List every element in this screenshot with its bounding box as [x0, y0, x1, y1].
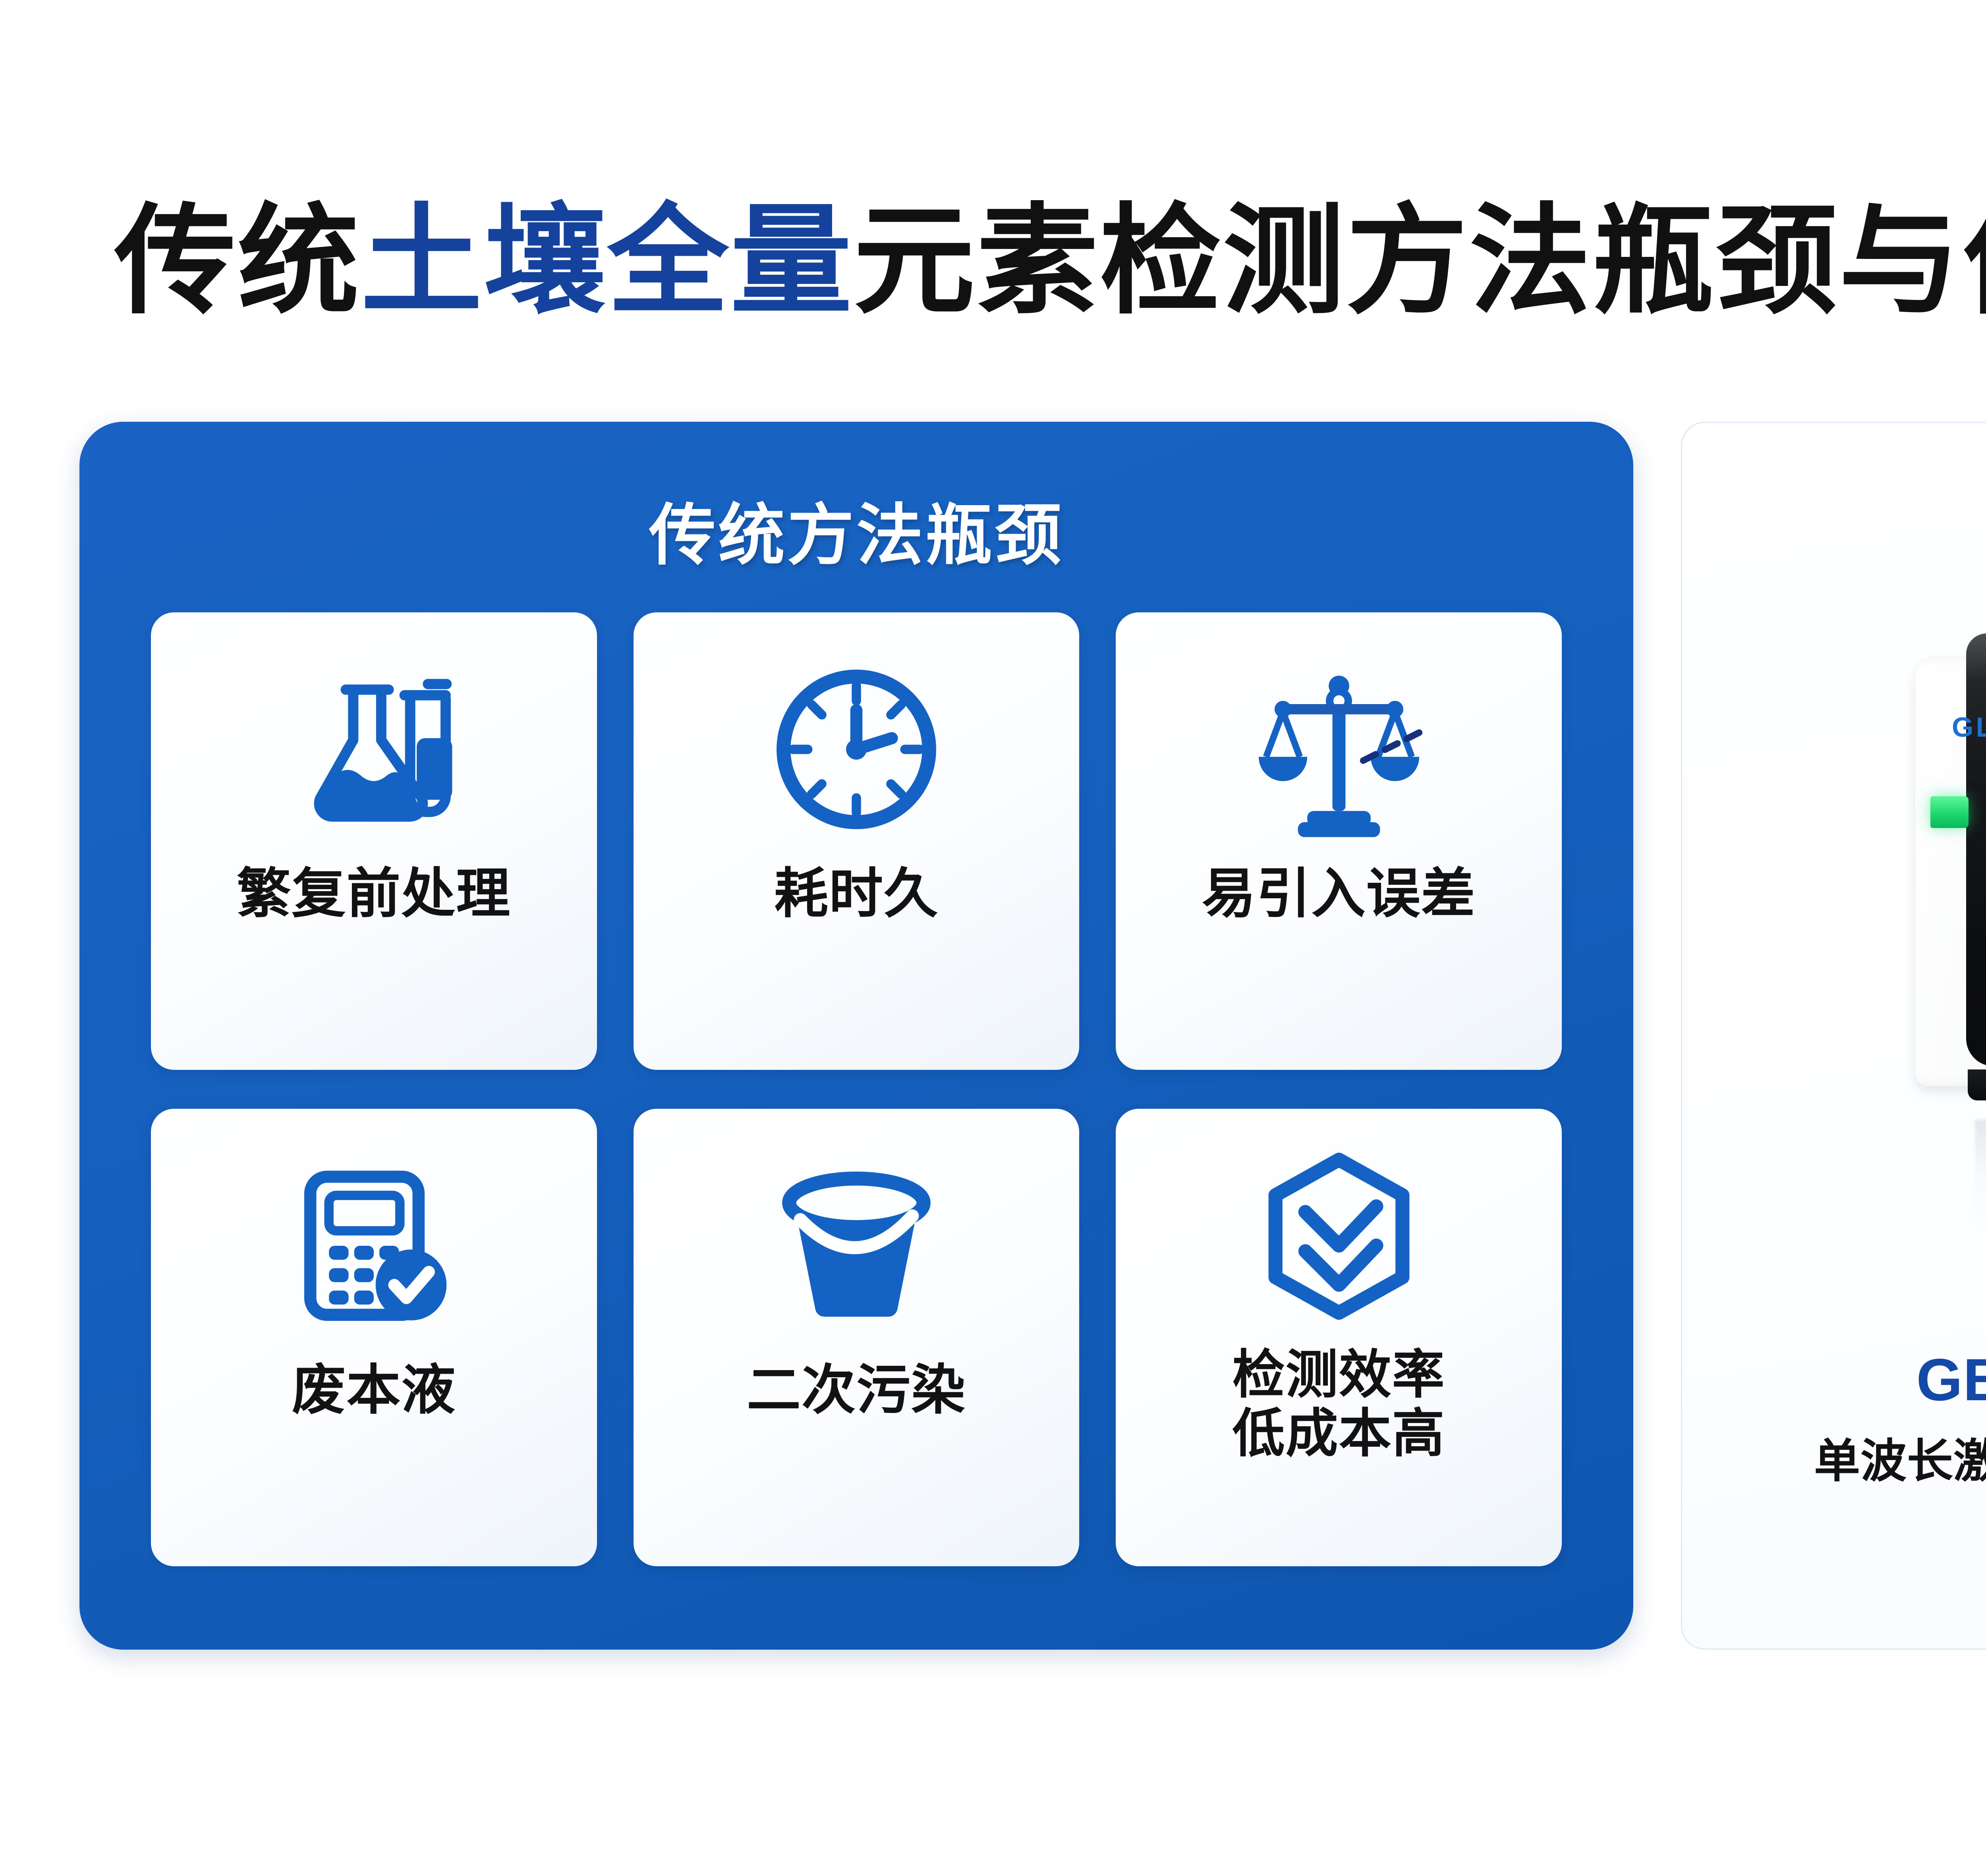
clock-icon [763, 656, 950, 843]
bucket-icon [763, 1152, 950, 1339]
hexagon-double-chevron-icon [1246, 1143, 1432, 1330]
right-panel-heading: 优化方案 [1682, 475, 1986, 568]
title-segment-highlight: 土壤全量 [361, 194, 853, 328]
traditional-bottleneck-panel: 传统方法瓶颈 [79, 422, 1633, 1650]
bottleneck-card[interactable]: 二次污染 [634, 1109, 1080, 1566]
bottleneck-card[interactable]: 废本液 [151, 1109, 597, 1566]
title-segment-2: 元素检测方法瓶颈与优化方案分析 [853, 194, 1986, 328]
standard-title: GB/T47310-2026标准 [1682, 1332, 1986, 1418]
infographic-page: 传统土壤全量元素检测方法瓶颈与优化方案分析 传统方法瓶颈 [0, 0, 1986, 1876]
device-base-strip [1968, 1069, 1986, 1100]
standard-subtitle: 单波长激发-能量色散X射线荧光光谱法 [1682, 1424, 1986, 1490]
device-brand-logo: GLMY® [1952, 711, 1986, 743]
title-segment-1: 传统 [114, 194, 361, 328]
bottleneck-card[interactable]: 检测效率 低成本高 [1116, 1109, 1562, 1566]
bottleneck-card-label: 检测效率 低成本高 [1233, 1345, 1445, 1463]
bottleneck-card[interactable]: 繁复前处理 [151, 612, 597, 1070]
device-brand-text: GLMY [1952, 712, 1986, 743]
device-photo: GLMY® 创想仪器 [1872, 614, 1986, 1289]
bottleneck-card-label: 易引入误差 [1202, 863, 1476, 924]
device-reflection [1975, 1119, 1986, 1239]
bottleneck-card-grid: 繁复前处理 [151, 612, 1562, 1566]
status-led-left [1930, 796, 1969, 828]
page-title-text: 传统土壤全量元素检测方法瓶颈与优化方案分析 [114, 199, 1986, 324]
balance-scale-icon [1246, 656, 1432, 843]
bottleneck-card-label: 耗时久 [774, 863, 939, 924]
bottleneck-card-label: 废本液 [292, 1360, 456, 1420]
device-front-panel [1966, 633, 1986, 1066]
page-title: 传统土壤全量元素检测方法瓶颈与优化方案分析 [0, 199, 1986, 324]
bottleneck-card[interactable]: 耗时久 [634, 612, 1080, 1070]
calculator-check-icon [280, 1152, 467, 1339]
flask-test-tube-icon [280, 656, 467, 843]
xrf-analyzer-device: GLMY® 创想仪器 [1915, 633, 1986, 1110]
bottleneck-card[interactable]: 易引入误差 [1116, 612, 1562, 1070]
bottleneck-card-label: 二次污染 [747, 1360, 966, 1420]
bottleneck-card-label: 繁复前处理 [237, 863, 511, 924]
left-panel-heading: 传统方法瓶颈 [79, 481, 1633, 578]
optimization-solution-panel: 优化方案 GLMY® 创想仪器 GB/T47310-2026标准 [1681, 422, 1986, 1650]
